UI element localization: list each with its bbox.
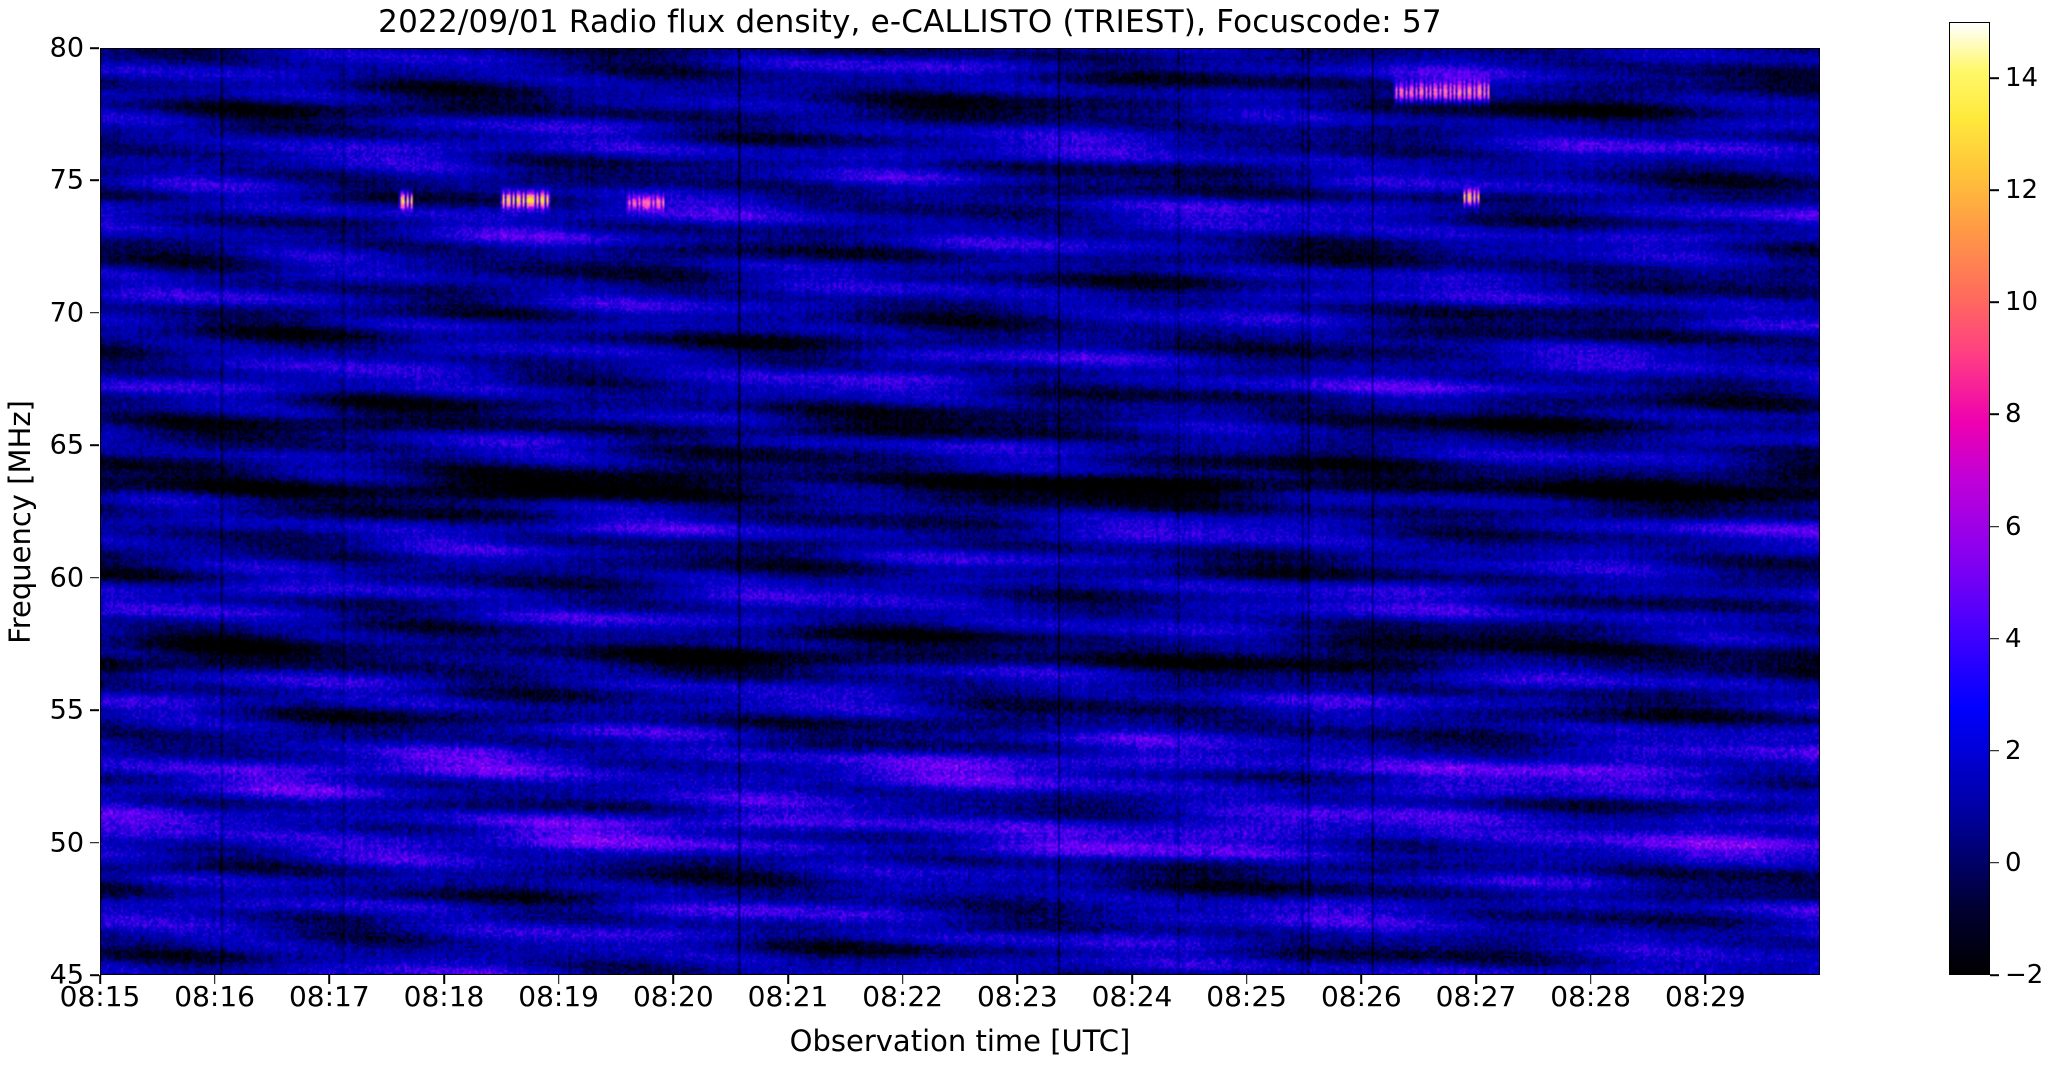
colorbar-tick-mark: [1990, 414, 1999, 416]
page-title: 2022/09/01 Radio flux density, e-CALLIST…: [0, 4, 1820, 40]
y-axis-tick-mark: [90, 444, 99, 446]
colorbar-tick-mark: [1990, 862, 1999, 864]
y-axis-tick-mark: [90, 974, 99, 976]
x-axis-tick-mark: [1590, 975, 1592, 984]
x-axis-tick-label: 08:26: [1321, 980, 1402, 1013]
x-axis-tick-label: 08:16: [174, 980, 255, 1013]
y-axis-tick-mark: [90, 709, 99, 711]
colorbar-tick-label: 8: [2005, 399, 2022, 429]
spectrogram-image: [101, 49, 1819, 974]
x-axis-tick-label: 08:28: [1550, 980, 1631, 1013]
y-axis-tick-mark: [90, 577, 99, 579]
x-axis-tick-mark: [443, 975, 445, 984]
x-axis-tick-mark: [1246, 975, 1248, 984]
colorbar-tick-mark: [1990, 526, 1999, 528]
colorbar-tick-label: 14: [2005, 63, 2038, 93]
colorbar-tick-label: 4: [2005, 624, 2022, 654]
colorbar-tick-mark: [1990, 77, 1999, 79]
x-axis-tick-mark: [329, 975, 331, 984]
y-axis-tick-mark: [90, 47, 99, 49]
x-axis-tick-label: 08:24: [1092, 980, 1173, 1013]
colorbar-tick-label: 12: [2005, 175, 2038, 205]
colorbar-tick-mark: [1990, 974, 1999, 976]
x-axis-tick-label: 08:22: [862, 980, 943, 1013]
y-axis-tick-label: 80: [4, 33, 84, 64]
y-axis-tick-label: 75: [4, 165, 84, 196]
y-axis-tick-mark: [90, 842, 99, 844]
x-axis-tick-mark: [787, 975, 789, 984]
colorbar-tick-label: −2: [2005, 960, 2043, 990]
y-axis-tick-label: 55: [4, 695, 84, 726]
x-axis-tick-mark: [1017, 975, 1019, 984]
x-axis-tick-label: 08:20: [633, 980, 714, 1013]
y-axis-tick-label: 70: [4, 297, 84, 328]
spectrogram-axes[interactable]: [100, 48, 1820, 975]
x-axis-tick-label: 08:25: [1206, 980, 1287, 1013]
colorbar-tick-mark: [1990, 750, 1999, 752]
x-axis-tick-mark: [902, 975, 904, 984]
colorbar-tick-mark: [1990, 638, 1999, 640]
colorbar-tick-mark: [1990, 301, 1999, 303]
colorbar-tick-label: 10: [2005, 287, 2038, 317]
y-axis-tick-label: 65: [4, 430, 84, 461]
y-axis-tick-mark: [90, 180, 99, 182]
y-axis-tick-label: 50: [4, 827, 84, 858]
x-axis-tick-mark: [1131, 975, 1133, 984]
spectrogram-pixels: [101, 49, 1819, 974]
x-axis-tick-label: 08:19: [518, 980, 599, 1013]
colorbar-tick-label: 0: [2005, 848, 2022, 878]
x-axis-tick-mark: [214, 975, 216, 984]
x-axis-tick-mark: [558, 975, 560, 984]
x-axis-tick-label: 08:17: [289, 980, 370, 1013]
colorbar-tick-label: 2: [2005, 736, 2022, 766]
x-axis-tick-label: 08:27: [1436, 980, 1517, 1013]
x-axis-tick-mark: [1475, 975, 1477, 984]
x-axis-tick-mark: [1705, 975, 1707, 984]
colorbar-gradient: [1949, 22, 1990, 975]
x-axis-tick-mark: [1361, 975, 1363, 984]
x-axis-tick-mark: [673, 975, 675, 984]
y-axis-tick-mark: [90, 312, 99, 314]
x-axis-tick-label: 08:23: [977, 980, 1058, 1013]
x-axis-tick-label: 08:21: [748, 980, 829, 1013]
colorbar-tick-mark: [1990, 189, 1999, 191]
colorbar[interactable]: 14121086420−2: [1949, 22, 1990, 975]
x-axis-tick-label: 08:29: [1665, 980, 1746, 1013]
figure-canvas: 2022/09/01 Radio flux density, e-CALLIST…: [0, 0, 2047, 1067]
x-axis-tick-mark: [99, 975, 101, 984]
y-axis-tick-label: 60: [4, 562, 84, 593]
x-axis-tick-label: 08:15: [60, 980, 141, 1013]
x-axis-label: Observation time [UTC]: [100, 1024, 1820, 1058]
x-axis-tick-label: 08:18: [404, 980, 485, 1013]
colorbar-tick-label: 6: [2005, 512, 2022, 542]
